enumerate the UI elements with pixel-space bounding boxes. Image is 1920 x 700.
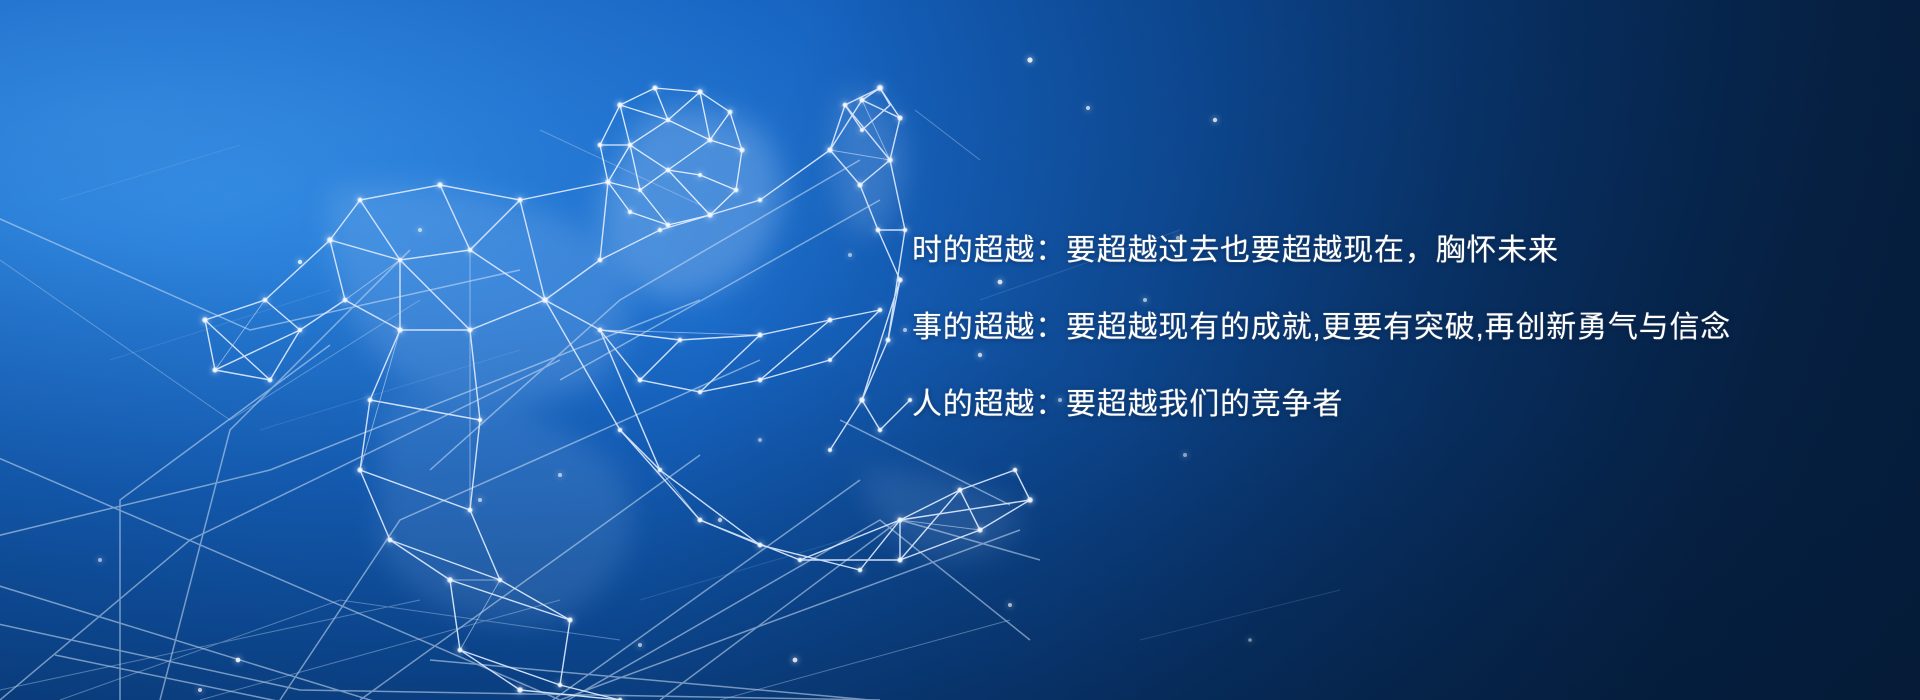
slogan-line-time: 时的超越：要超越过去也要超越现在，胸怀未来 [912, 236, 1812, 266]
hero-banner: 时的超越：要超越过去也要超越现在，胸怀未来 事的超越：要超越现有的成就,更要有突… [0, 0, 1920, 700]
slogan-line-thing: 事的超越：要超越现有的成就,更要有突破,再创新勇气与信念 [912, 313, 1812, 343]
slogan-text-block: 时的超越：要超越过去也要超越现在，胸怀未来 事的超越：要超越现有的成就,更要有突… [912, 236, 1812, 420]
slogan-line-person: 人的超越：要超越我们的竞争者 [912, 390, 1812, 420]
